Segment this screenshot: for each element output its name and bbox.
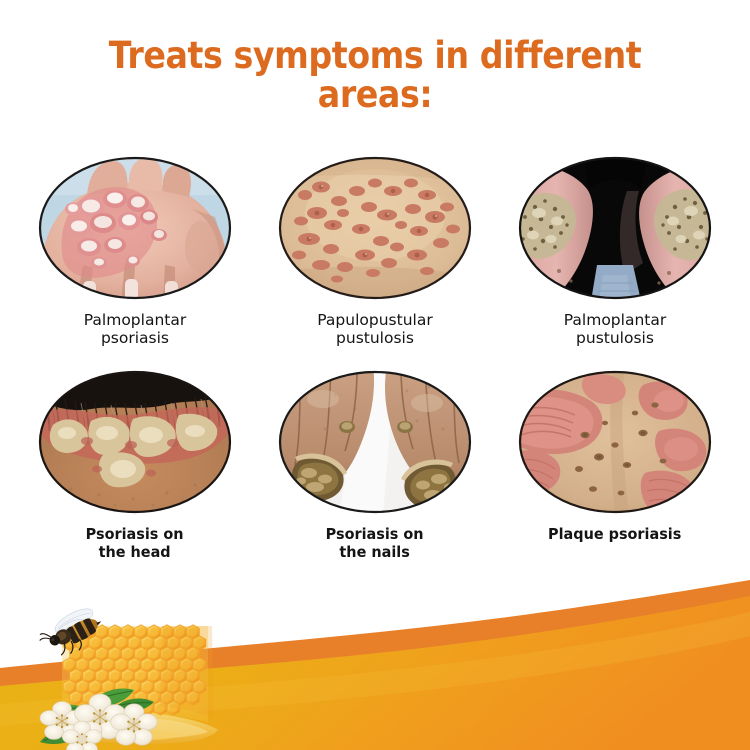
gallery-item-caption: Plaque psoriasis xyxy=(548,525,681,543)
gallery-row-1: Palmoplantar psoriasis xyxy=(0,155,750,347)
scalp-psoriasis-photo[interactable] xyxy=(37,369,233,515)
gallery-item-caption: Palmoplantar pustulosis xyxy=(564,311,666,347)
plaque-psoriasis-photo[interactable] xyxy=(517,369,713,515)
soles-pustulosis-photo[interactable] xyxy=(517,155,713,301)
honeycomb-bee-flowers xyxy=(22,602,252,750)
gallery-item-palmoplantar-psoriasis[interactable]: Palmoplantar psoriasis xyxy=(15,155,255,347)
papulopustular-skin-photo[interactable] xyxy=(277,155,473,301)
symptom-gallery: Palmoplantar psoriasis xyxy=(0,155,750,561)
gallery-item-plaque-psoriasis[interactable]: Plaque psoriasis xyxy=(495,369,735,561)
gallery-item-caption: Psoriasis on the head xyxy=(86,525,184,561)
gallery-item-caption: Palmoplantar psoriasis xyxy=(84,311,186,347)
gallery-row-2: Psoriasis on the head xyxy=(0,369,750,561)
hand-psoriasis-photo[interactable] xyxy=(37,155,233,301)
gallery-item-palmoplantar-pustulosis[interactable]: Palmoplantar pustulosis xyxy=(495,155,735,347)
gallery-item-psoriasis-on-the-head[interactable]: Psoriasis on the head xyxy=(15,369,255,561)
nail-psoriasis-photo[interactable] xyxy=(277,369,473,515)
gallery-item-psoriasis-on-the-nails[interactable]: Psoriasis on the nails xyxy=(255,369,495,561)
page-title: Treats symptoms in different areas: xyxy=(38,36,713,114)
gallery-item-papulopustular-pustulosis[interactable]: Papulopustular pustulosis xyxy=(255,155,495,347)
poster-root: Treats symptoms in different areas: xyxy=(0,0,750,750)
gallery-item-caption: Papulopustular pustulosis xyxy=(317,311,432,347)
gallery-item-caption: Psoriasis on the nails xyxy=(326,525,424,561)
